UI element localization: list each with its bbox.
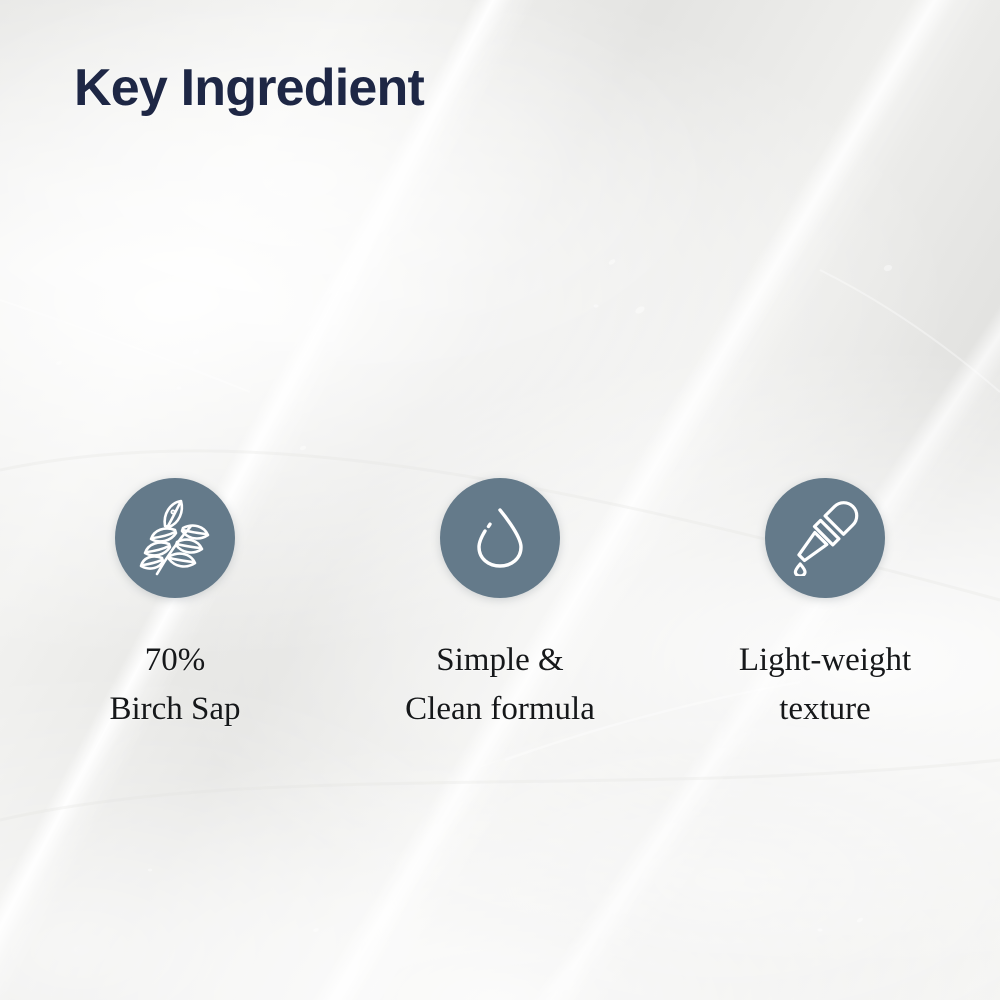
leaf-branch-icon — [139, 498, 211, 578]
dropper-pipette-icon — [788, 500, 862, 576]
leaf-branch-icon-badge — [115, 478, 235, 598]
water-drop-icon — [473, 506, 527, 570]
feature-label-birch-sap: 70% Birch Sap — [109, 636, 240, 734]
feature-item-birch-sap: 70% Birch Sap — [13, 478, 338, 734]
water-drop-icon-badge — [440, 478, 560, 598]
page-title: Key Ingredient — [74, 58, 424, 118]
dropper-pipette-icon-badge — [765, 478, 885, 598]
feature-item-light-weight: Light-weight texture — [663, 478, 988, 734]
feature-item-clean-formula: Simple & Clean formula — [338, 478, 663, 734]
key-ingredient-feature-row: 70% Birch Sap Simple & Clean formula — [0, 478, 1000, 734]
feature-label-light-weight: Light-weight texture — [739, 636, 911, 734]
feature-label-clean-formula: Simple & Clean formula — [405, 636, 595, 734]
